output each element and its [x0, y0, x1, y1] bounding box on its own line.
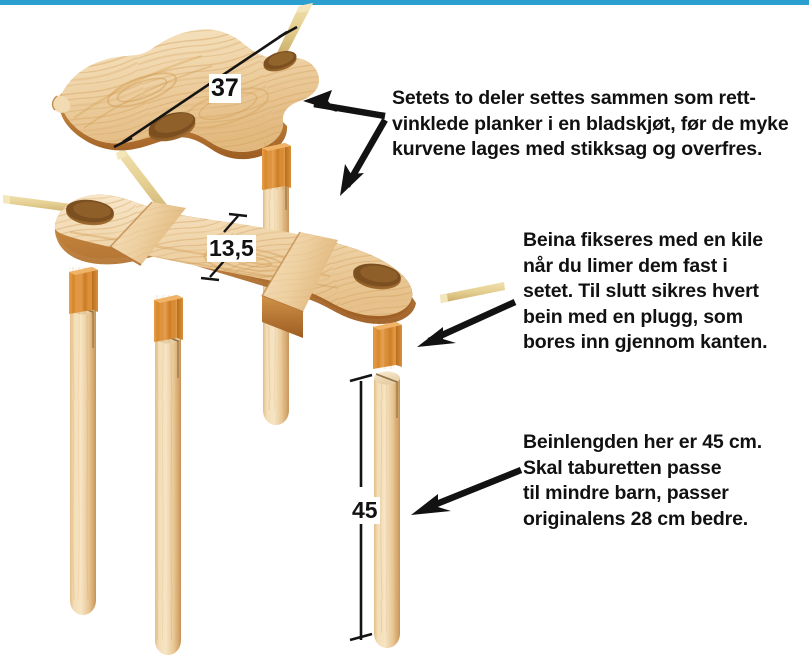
illustration-canvas: 37 13,5 45 Setets to deler settes sammen… — [0, 0, 809, 657]
seat-top-part — [40, 20, 350, 170]
annotation-leg-length: Beinlengden her er 45 cm. Skal taburette… — [523, 430, 809, 532]
dowel-pin-top-right — [277, 3, 313, 57]
stool-leg-2 — [155, 331, 181, 656]
wedge-rear — [262, 143, 291, 190]
dimension-label-45: 45 — [350, 497, 380, 524]
dowel-pin-right — [440, 282, 505, 303]
stool-leg-1 — [70, 302, 96, 616]
dimension-label-37: 37 — [209, 74, 241, 103]
annotation-seat-assembly: Setets to deler settes sammen som rett- … — [392, 86, 802, 163]
arrow-to-leg-length — [411, 470, 521, 515]
annotation-leg-fixing: Beina fikseres med en kile når du limer … — [523, 228, 809, 356]
dimension-label-13-5: 13,5 — [207, 235, 256, 262]
wedge-4 — [373, 322, 402, 369]
arrow-to-wedge — [417, 302, 515, 347]
arrow-to-seat-parts — [303, 90, 385, 196]
wedge-1 — [69, 267, 98, 314]
wedge-2 — [154, 295, 183, 342]
